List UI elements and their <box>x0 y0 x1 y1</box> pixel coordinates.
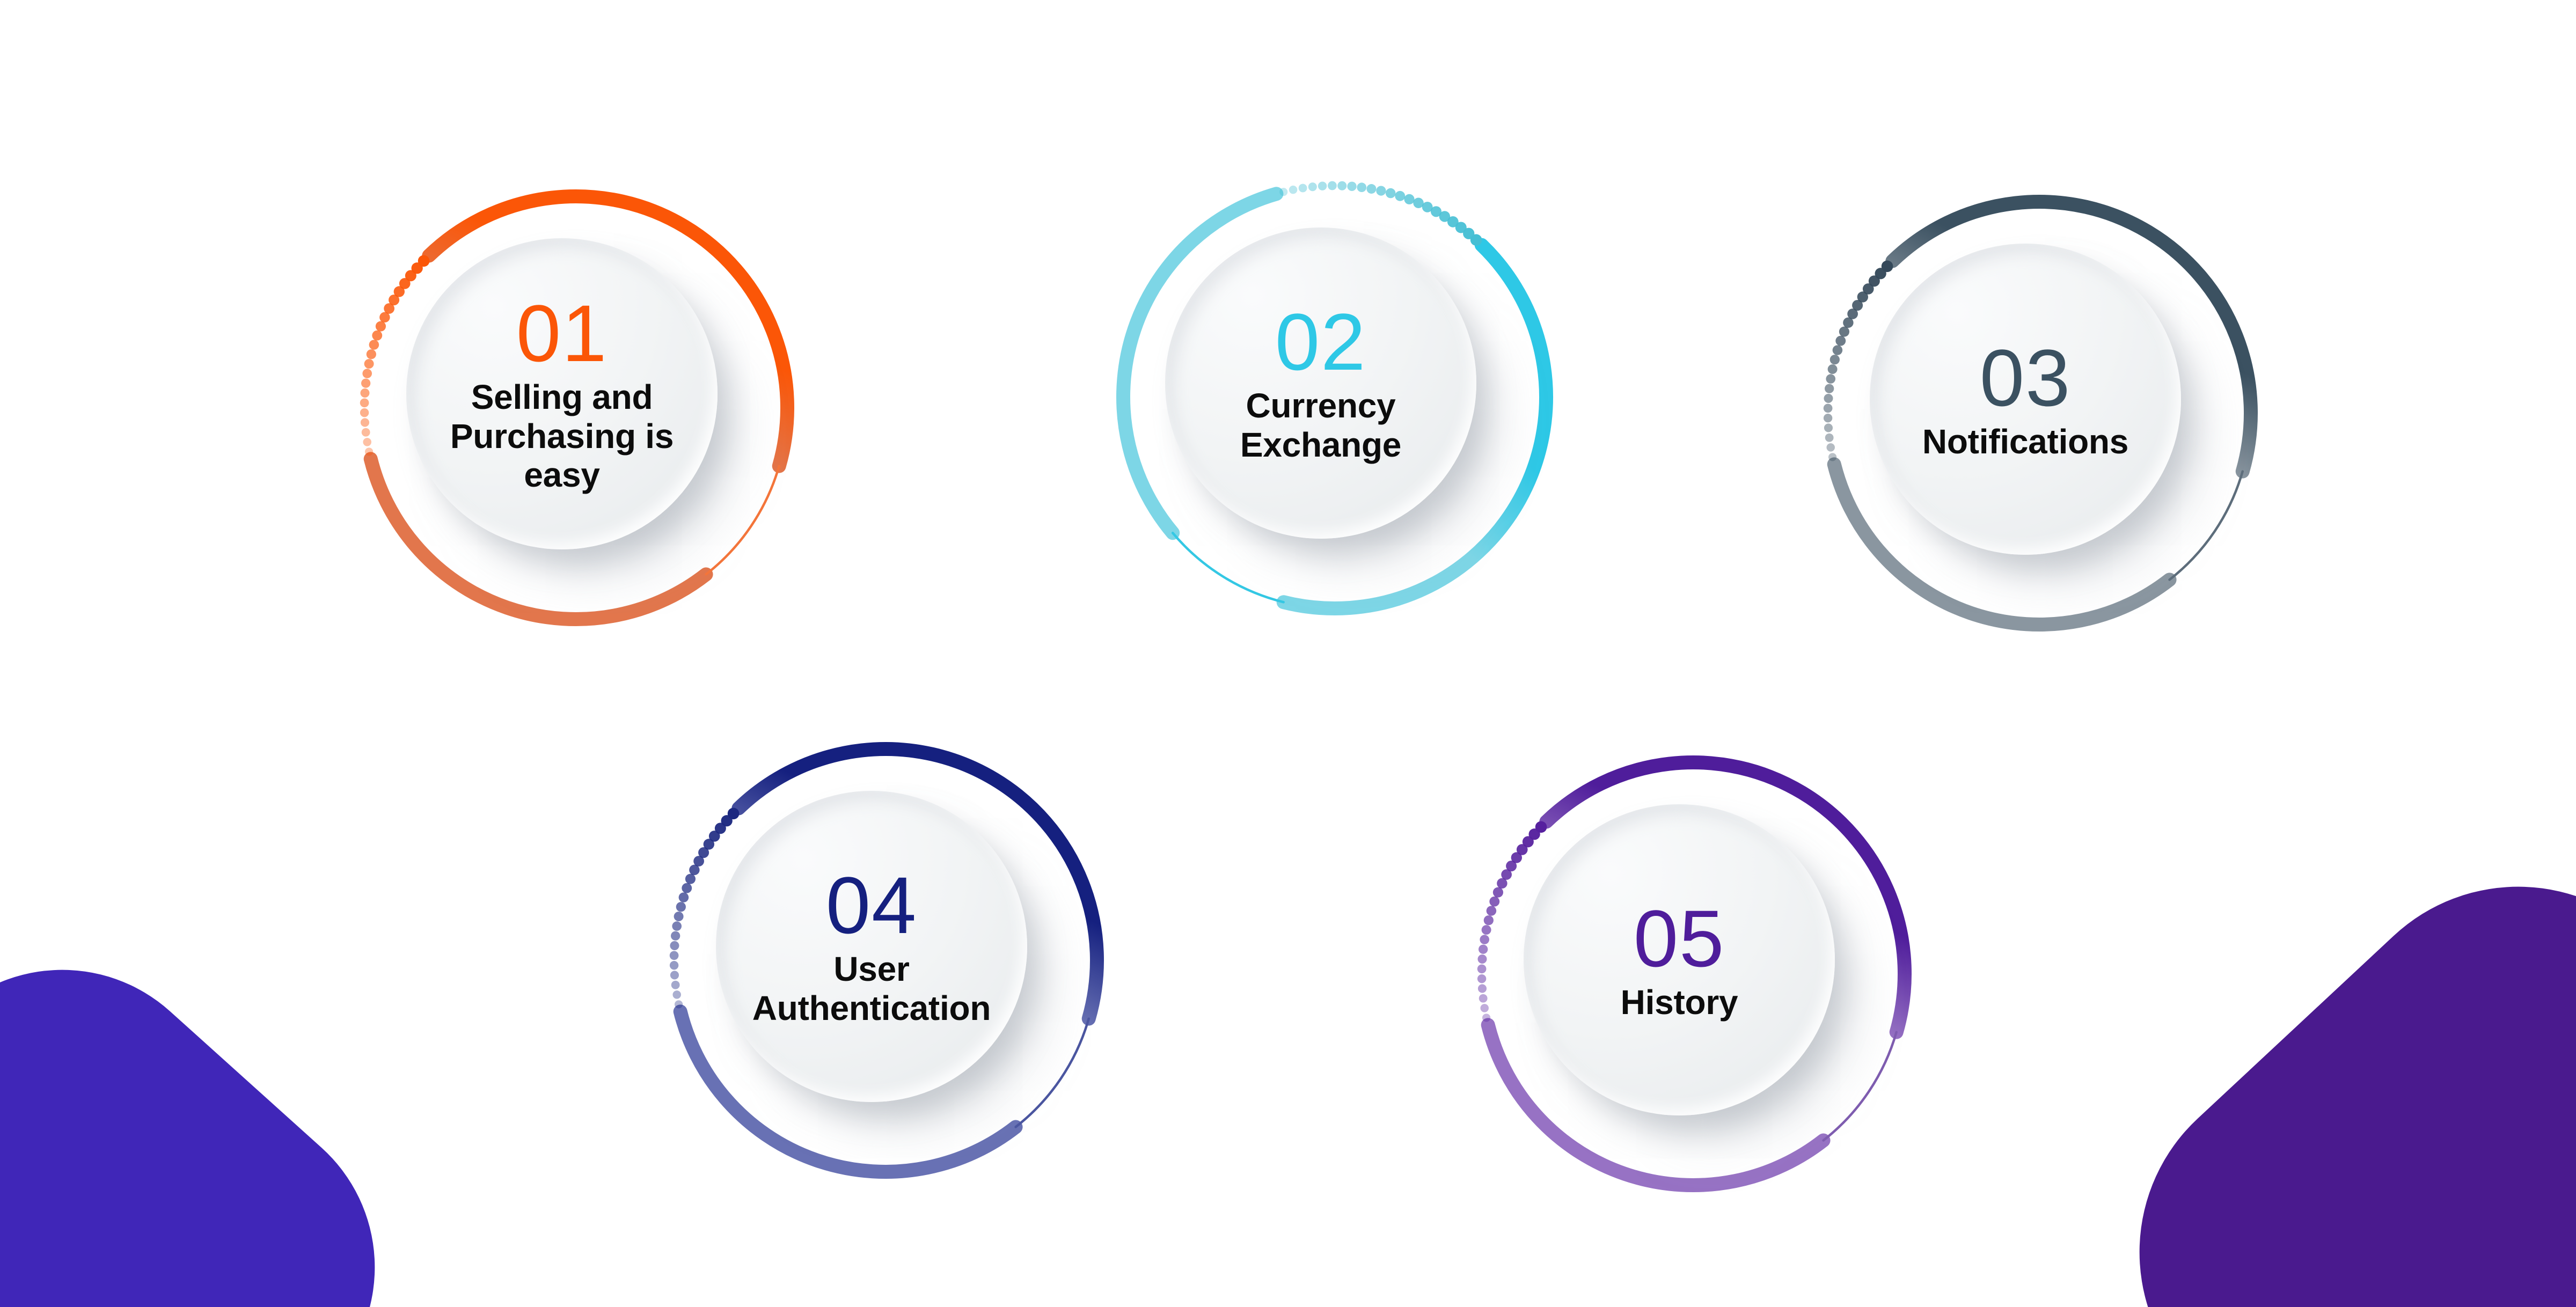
badge-disc-04[interactable]: 04User Authentication <box>716 791 1027 1102</box>
purple-blob-bottom-right <box>2064 811 2576 1307</box>
ring-arc-hairline <box>706 466 779 575</box>
purple-blob-bottom-left <box>0 904 441 1307</box>
badge-number: 03 <box>1980 337 2071 418</box>
ring-arc-hairline <box>1173 533 1284 602</box>
badge-number: 02 <box>1275 302 1366 382</box>
badge-label: History <box>1621 983 1738 1022</box>
ring-arc-hairline <box>1016 1019 1089 1127</box>
badge-label: Notifications <box>1922 422 2128 461</box>
badge-01[interactable]: 01Selling and Purchasing is easy <box>343 175 809 641</box>
badge-04[interactable]: 04User Authentication <box>653 728 1118 1193</box>
infographic-canvas: 01Selling and Purchasing is easy02Curren… <box>0 0 2576 1307</box>
badge-number: 05 <box>1634 898 1725 979</box>
badge-number: 04 <box>826 865 917 945</box>
badge-label: User Authentication <box>752 950 991 1028</box>
badge-02[interactable]: 02Currency Exchange <box>1102 164 1568 630</box>
badge-disc-01[interactable]: 01Selling and Purchasing is easy <box>406 238 718 549</box>
ring-arc-hairline <box>2170 472 2243 580</box>
badge-label: Currency Exchange <box>1240 386 1401 465</box>
ring-arc-hairline <box>1824 1032 1897 1141</box>
badge-label: Selling and Purchasing is easy <box>450 378 674 495</box>
badge-disc-02[interactable]: 02Currency Exchange <box>1165 227 1476 539</box>
badge-disc-03[interactable]: 03Notifications <box>1870 244 2181 555</box>
badge-05[interactable]: 05History <box>1460 741 1926 1207</box>
badge-03[interactable]: 03Notifications <box>1806 180 2272 646</box>
badge-number: 01 <box>516 293 608 373</box>
badge-disc-05[interactable]: 05History <box>1524 804 1835 1115</box>
